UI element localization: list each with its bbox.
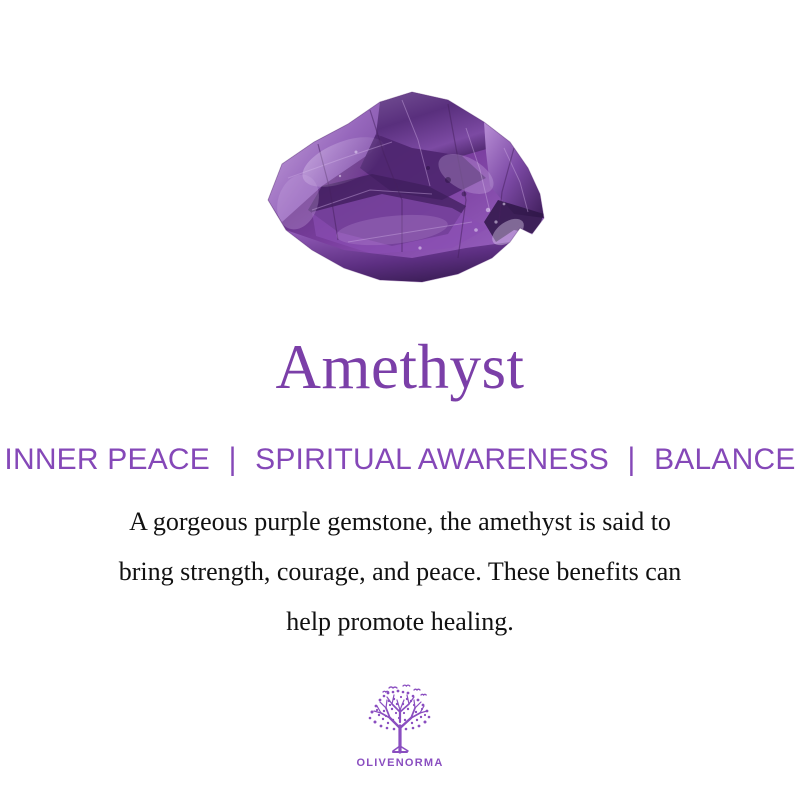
tree-of-life-icon <box>359 682 441 754</box>
product-description: A gorgeous purple gemstone, the amethyst… <box>40 497 760 647</box>
brand-logo: OLIVENORMA <box>0 682 800 769</box>
amethyst-product-card: Amethyst INNER PEACE | SPIRITUAL AWARENE… <box>0 0 800 800</box>
keyword-spiritual-awareness: SPIRITUAL AWARENESS <box>255 441 609 479</box>
keyword-inner-peace: INNER PEACE <box>4 441 210 479</box>
amethyst-crystal-icon <box>252 82 552 294</box>
keyword-separator: | <box>618 440 646 480</box>
keyword-separator: | <box>219 440 247 480</box>
keyword-balance: BALANCE <box>654 441 795 479</box>
description-line: A gorgeous purple gemstone, the amethyst… <box>40 497 760 547</box>
brand-wordmark: OLIVENORMA <box>0 757 800 769</box>
page-title: Amethyst <box>0 330 800 404</box>
amethyst-crystal-image <box>252 82 552 294</box>
keyword-list: INNER PEACE | SPIRITUAL AWARENESS | BALA… <box>0 441 800 479</box>
description-line: bring strength, courage, and peace. Thes… <box>40 547 760 597</box>
description-line: help promote healing. <box>40 597 760 647</box>
